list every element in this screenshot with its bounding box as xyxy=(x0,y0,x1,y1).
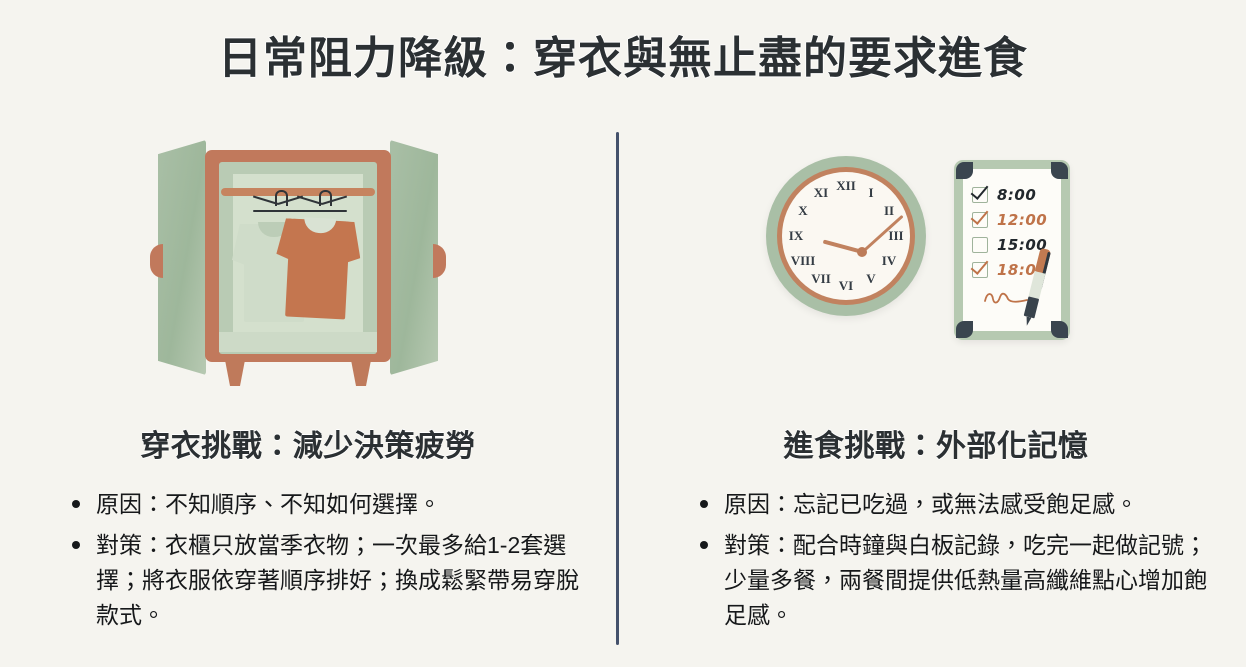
wardrobe-foot-left xyxy=(225,360,245,386)
bullet-list-dressing: 原因：不知順序、不知如何選擇。 對策：衣櫃只放當季衣物；一次最多給1-2套選擇；… xyxy=(8,487,608,633)
clock-numeral: II xyxy=(884,203,894,219)
clock-numeral: IV xyxy=(882,253,896,269)
column-eating: XII I II III IV V VI VII VIII IX X XI xyxy=(636,120,1236,639)
clock-numeral: XI xyxy=(814,185,828,201)
page-title: 日常阻力降級：穿衣與無止盡的要求進食 xyxy=(0,22,1246,86)
column-dressing: 穿衣挑戰：減少決策疲勞 原因：不知順序、不知如何選擇。 對策：衣櫃只放當季衣物；… xyxy=(8,120,608,639)
column-divider xyxy=(616,132,619,645)
checkbox-checked-icon[interactable] xyxy=(972,187,988,203)
wardrobe-door-right-icon xyxy=(390,140,438,375)
clock-numeral: IX xyxy=(789,228,803,244)
list-item: 原因：不知順序、不知如何選擇。 xyxy=(70,487,588,522)
whiteboard-clip-top-left xyxy=(956,162,973,179)
wardrobe-graphic xyxy=(148,132,448,402)
checklist-row: 8:00 xyxy=(972,182,1058,207)
clock-numeral: VI xyxy=(839,278,853,294)
clock-face: XII I II III IV V VI VII VIII IX X XI xyxy=(782,172,910,300)
tshirt-body xyxy=(285,218,350,319)
section-heading-eating: 進食挑戰：外部化記憶 xyxy=(636,421,1236,465)
clock-numeral: I xyxy=(868,185,873,201)
pen-grip xyxy=(1024,296,1040,318)
whiteboard-icon: 8:00 12:00 15:00 18:00 xyxy=(954,160,1070,340)
whiteboard-clip-bottom-left xyxy=(956,321,973,338)
clock-numeral: VIII xyxy=(791,253,816,269)
checklist-time-label: 8:00 xyxy=(997,186,1036,204)
clock-numeral: VII xyxy=(811,271,831,287)
checklist-row: 12:00 xyxy=(972,207,1058,232)
wardrobe-floor xyxy=(219,332,377,352)
bullet-list-eating: 原因：忘記已吃過，或無法感受飽足感。 對策：配合時鐘與白板記錄，吃完一起做記號；… xyxy=(636,487,1236,633)
clock-numeral: V xyxy=(866,271,875,287)
wall-clock-icon: XII I II III IV V VI VII VIII IX X XI xyxy=(766,156,926,316)
wardrobe-handle-left-icon xyxy=(150,244,163,278)
list-item: 原因：忘記已吃過，或無法感受飽足感。 xyxy=(698,487,1216,522)
whiteboard-clip-top-right xyxy=(1051,162,1068,179)
checklist-time-label: 12:00 xyxy=(997,211,1047,229)
checkbox-checked-icon[interactable] xyxy=(972,262,988,278)
clock-numeral: III xyxy=(888,228,903,244)
wardrobe-handle-right-icon xyxy=(433,244,446,278)
section-heading-dressing: 穿衣挑戰：減少決策疲勞 xyxy=(8,421,608,465)
checkbox-checked-icon[interactable] xyxy=(972,212,988,228)
clock-center-cap xyxy=(857,247,867,257)
list-item: 對策：配合時鐘與白板記錄，吃完一起做記號；少量多餐，兩餐間提供低熱量高纖維點心增… xyxy=(698,528,1216,633)
tshirt-terracotta-icon xyxy=(273,204,363,320)
wardrobe-foot-right xyxy=(351,360,371,386)
whiteboard-clip-bottom-right xyxy=(1051,321,1068,338)
clock-and-whiteboard-illustration: XII I II III IV V VI VII VIII IX X XI xyxy=(636,120,1236,405)
clock-numeral: XII xyxy=(836,178,856,194)
signature-squiggle-icon xyxy=(984,290,1028,304)
wardrobe-door-left-icon xyxy=(158,140,206,375)
checkbox-empty-icon[interactable] xyxy=(972,237,988,253)
wardrobe-illustration xyxy=(8,120,608,405)
list-item: 對策：衣櫃只放當季衣物；一次最多給1-2套選擇；將衣服依穿著順序排好；換成鬆緊帶… xyxy=(70,528,588,633)
clock-numeral: X xyxy=(798,203,807,219)
